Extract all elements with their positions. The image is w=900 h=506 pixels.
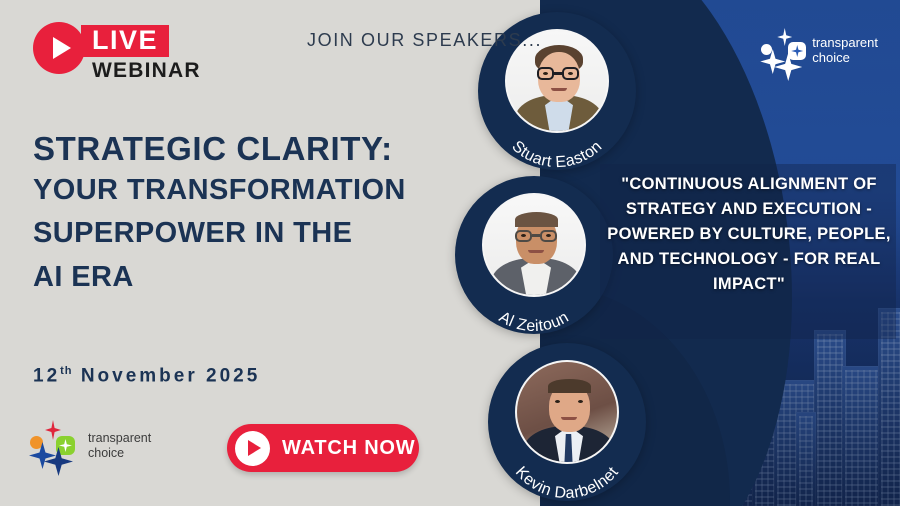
brand-logo-header: transparent choice xyxy=(757,27,878,73)
brand-logo-footer: transparent choice xyxy=(27,420,151,472)
speaker-name: Kevin Darbelnet xyxy=(512,464,622,503)
headline-line-2: YOUR TRANSFORMATION xyxy=(33,169,406,213)
event-date-day: 12 xyxy=(33,365,60,386)
event-date: 12th November 2025 xyxy=(33,365,260,387)
headline-line-3: SUPERPOWER IN THE xyxy=(33,212,406,256)
brand-name-line-2: choice xyxy=(88,446,151,461)
headline-line-1: STRATEGIC CLARITY: xyxy=(33,130,406,169)
page-title: STRATEGIC CLARITY: YOUR TRANSFORMATION S… xyxy=(33,130,406,299)
speakers-heading: JOIN OUR SPEAKERS... xyxy=(307,30,542,51)
svg-text:Stuart Easton: Stuart Easton xyxy=(508,138,605,171)
watch-now-button[interactable]: WATCH NOW xyxy=(227,424,419,472)
svg-text:Kevin Darbelnet: Kevin Darbelnet xyxy=(512,464,622,503)
speaker-name-arc: Al Zeitoun xyxy=(455,176,613,334)
speaker-name-arc: Kevin Darbelnet xyxy=(488,343,646,501)
brand-name-line-1: transparent xyxy=(88,431,151,446)
speaker-card-al-zeitoun: Al Zeitoun xyxy=(455,176,613,334)
speaker-card-kevin-darbelnet: Kevin Darbelnet xyxy=(488,343,646,501)
svg-text:Al Zeitoun: Al Zeitoun xyxy=(496,309,572,335)
watch-now-label: WATCH NOW xyxy=(282,437,415,460)
speaker-name: Stuart Easton xyxy=(508,138,605,171)
webinar-promo-banner: LIVE WEBINAR STRATEGIC CLARITY: YOUR TRA… xyxy=(0,0,900,506)
brand-name-header-line-2: choice xyxy=(812,50,878,65)
webinar-label: WEBINAR xyxy=(92,59,201,83)
speaker-name: Al Zeitoun xyxy=(496,309,572,335)
brand-name-footer: transparent choice xyxy=(88,431,151,461)
event-date-month-year: November 2025 xyxy=(81,365,260,386)
sparkle-logo-icon xyxy=(27,420,79,472)
live-webinar-badge: LIVE WEBINAR xyxy=(33,22,201,83)
headline-line-4: AI ERA xyxy=(33,256,406,300)
play-icon xyxy=(33,22,85,74)
brand-name-header: transparent choice xyxy=(812,35,878,66)
play-icon xyxy=(235,431,270,466)
live-label: LIVE xyxy=(81,25,169,57)
speaker-quote: "CONTINUOUS ALIGNMENT OF STRATEGY AND EX… xyxy=(606,172,892,297)
sparkle-logo-icon-white xyxy=(757,27,803,73)
brand-name-header-line-1: transparent xyxy=(812,35,878,50)
event-date-ordinal: th xyxy=(60,365,72,377)
